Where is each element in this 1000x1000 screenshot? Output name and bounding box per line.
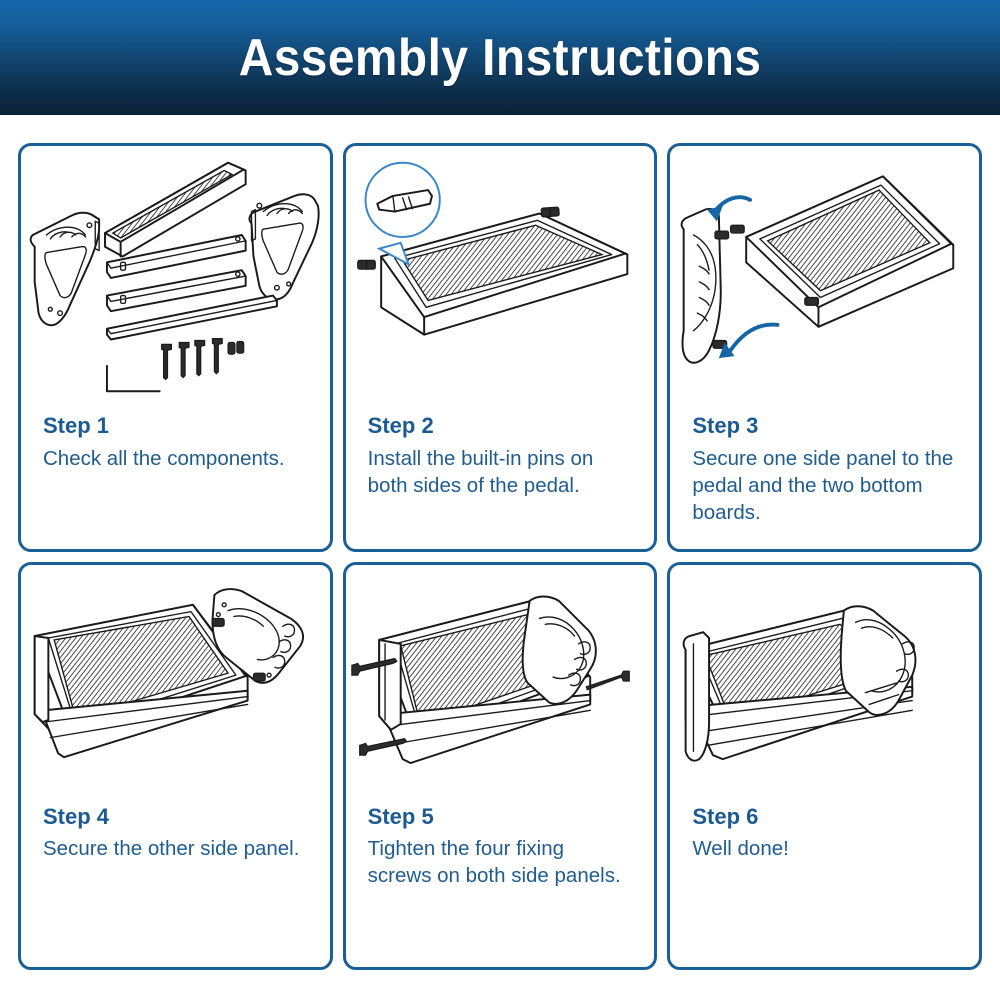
step-1-description: Check all the components. [43, 445, 308, 472]
step-card-6[interactable]: Step 6 Well done! [667, 562, 982, 971]
screw-3 [195, 340, 205, 375]
fixing-screw-right [586, 671, 629, 690]
step-1-text-block: Step 1 Check all the components. [21, 408, 330, 472]
step-6-label: Step 6 [692, 803, 957, 831]
screw-1 [162, 344, 172, 379]
step-5-text-block: Step 5 Tighten the four fixing screws on… [346, 795, 655, 890]
step-3-description: Secure one side panel to the pedal and t… [692, 445, 957, 527]
screw-4 [212, 339, 222, 374]
step-4-description: Secure the other side panel. [43, 835, 308, 862]
step-5-description: Tighten the four fixing screws on both s… [368, 835, 633, 890]
step-4-text-block: Step 4 Secure the other side panel. [21, 795, 330, 863]
page-header-banner: Assembly Instructions [0, 0, 1000, 115]
step-card-1[interactable]: Step 1 Check all the components. [18, 143, 333, 552]
step-4-illustration [21, 565, 330, 795]
pedal-body [731, 176, 954, 326]
allen-key-part [107, 366, 160, 391]
small-fitting-1 [228, 342, 235, 354]
step-6-text-block: Step 6 Well done! [670, 795, 979, 863]
step-1-illustration [21, 146, 330, 408]
step-6-illustration [670, 565, 979, 795]
step-2-illustration [346, 146, 655, 408]
left-side-panel-part [31, 213, 100, 326]
step-card-4[interactable]: Step 4 Secure the other side panel. [18, 562, 333, 971]
pin-left [357, 260, 375, 269]
screws-group [162, 339, 244, 380]
assembly-instructions-page: Assembly Instructions [0, 0, 1000, 1000]
step-card-2[interactable]: Step 2 Install the built-in pins on both… [343, 143, 658, 552]
fixing-screw-right-lower [594, 693, 635, 711]
step-5-illustration [346, 565, 655, 795]
step-2-text-block: Step 2 Install the built-in pins on both… [346, 408, 655, 499]
right-side-panel-part [249, 194, 318, 299]
page-title: Assembly Instructions [239, 28, 762, 88]
step-4-label: Step 4 [43, 803, 308, 831]
step-2-description: Install the built-in pins on both sides … [368, 445, 633, 500]
step-card-5[interactable]: Step 5 Tighten the four fixing screws on… [343, 562, 658, 971]
step-5-label: Step 5 [368, 803, 633, 831]
step-1-label: Step 1 [43, 412, 308, 440]
side-panel-attaching [682, 209, 729, 363]
steps-grid: Step 1 Check all the components. [18, 143, 982, 970]
step-3-label: Step 3 [692, 412, 957, 440]
pin-right [541, 207, 559, 217]
step-2-label: Step 2 [368, 412, 633, 440]
finished-footrest [684, 606, 916, 760]
step-3-illustration [670, 146, 979, 408]
step-card-3[interactable]: Step 3 Secure one side panel to the peda… [667, 143, 982, 552]
assembly-arrow-bottom [719, 325, 778, 359]
small-fitting-2 [237, 341, 244, 353]
step-6-description: Well done! [692, 835, 957, 862]
assembled-unit [379, 596, 596, 763]
step-3-text-block: Step 3 Secure one side panel to the peda… [670, 408, 979, 526]
screw-2 [179, 342, 189, 377]
